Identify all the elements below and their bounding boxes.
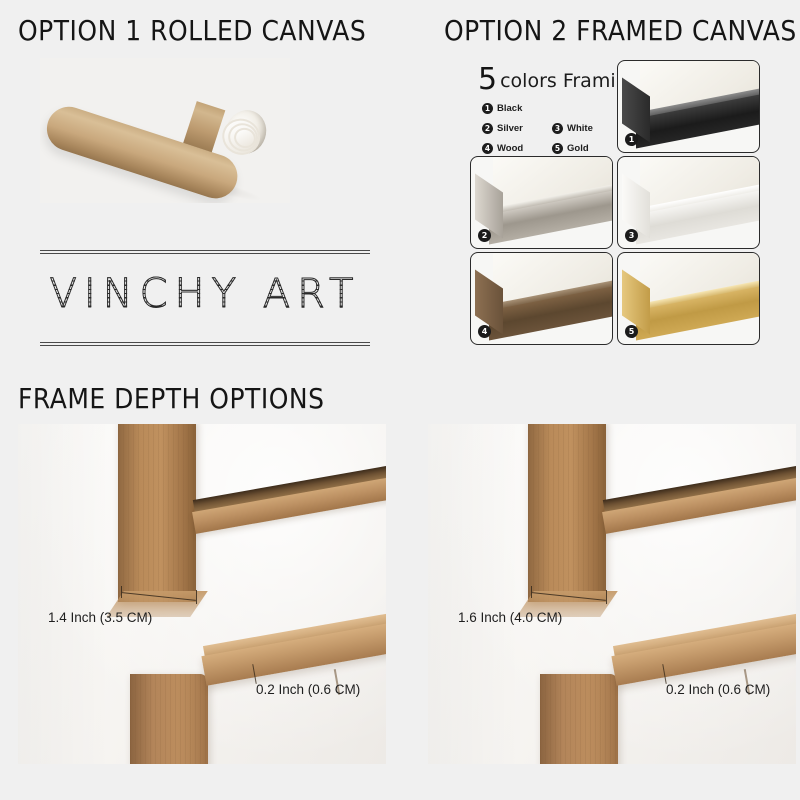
framing-colors-title: 5colors Framing — [478, 62, 640, 97]
frame-edge-label: 0.2 Inch (0.6 CM) — [256, 682, 360, 697]
legend-item-white: 3 White — [552, 123, 622, 134]
swatch-badge-4: 4 — [478, 325, 491, 338]
legend-badge-2: 2 — [482, 123, 493, 134]
frame-corner-illustration — [618, 253, 759, 344]
measure-tick-right — [606, 590, 607, 604]
brand-wordmark: VINCHY ART — [40, 272, 370, 316]
frame-corner-illustration — [471, 253, 612, 344]
rolled-canvas-photo — [40, 58, 290, 203]
logo-rule-bottom — [40, 342, 370, 346]
legend-badge-1: 1 — [482, 103, 493, 114]
section-heading-option-1: OPTION 1 ROLLED CANVAS — [18, 14, 366, 46]
frame-depth-photo-1-4-inch: 1.4 Inch (3.5 CM) 0.2 Inch (0.6 CM) — [18, 424, 386, 764]
frame-depth-photo-1-6-inch: 1.6 Inch (4.0 CM) 0.2 Inch (0.6 CM) — [428, 424, 796, 764]
legend-label-silver: Silver — [497, 123, 523, 134]
swatch-badge-5: 5 — [625, 325, 638, 338]
frame-swatch-gold[interactable]: 5 — [617, 252, 760, 345]
frame-swatch-silver[interactable]: 2 — [470, 156, 613, 249]
section-heading-option-2: OPTION 2 FRAMED CANVAS — [444, 14, 797, 46]
swatch-badge-3: 3 — [625, 229, 638, 242]
logo-rule-top — [40, 250, 370, 254]
frame-post-lower — [540, 674, 618, 764]
frame-edge-label: 0.2 Inch (0.6 CM) — [666, 682, 770, 697]
frame-depth-label: 1.6 Inch (4.0 CM) — [458, 610, 562, 625]
framing-color-legend: 1 Black 2 Silver 3 White 4 Wood 5 Gold — [482, 103, 612, 154]
legend-item-black: 1 Black — [482, 103, 622, 114]
frame-depth-label: 1.4 Inch (3.5 CM) — [48, 610, 152, 625]
frame-post-upper — [118, 424, 196, 602]
legend-item-wood: 4 Wood — [482, 143, 552, 154]
legend-label-white: White — [567, 123, 593, 134]
legend-badge-5: 5 — [552, 143, 563, 154]
brand-logo-block: VINCHY ART — [40, 248, 370, 348]
legend-item-gold: 5 Gold — [552, 143, 622, 154]
frame-swatch-wood[interactable]: 4 — [470, 252, 613, 345]
swatch-badge-2: 2 — [478, 229, 491, 242]
infographic-canvas: OPTION 1 ROLLED CANVAS VINCHY ART OPTION… — [0, 0, 800, 800]
frame-post-upper — [528, 424, 606, 602]
swatch-badge-1: 1 — [625, 133, 638, 146]
framing-count: 5 — [478, 62, 497, 97]
frame-swatch-black[interactable]: 1 — [617, 60, 760, 153]
frame-corner-illustration — [618, 61, 759, 152]
frame-corner-illustration — [618, 157, 759, 248]
framing-colors-panel: 5colors Framing 1 Black 2 Silver 3 White… — [470, 58, 770, 358]
legend-badge-3: 3 — [552, 123, 563, 134]
frame-swatch-white[interactable]: 3 — [617, 156, 760, 249]
measure-tick-right — [196, 590, 197, 604]
legend-label-wood: Wood — [497, 143, 523, 154]
frame-corner-illustration — [471, 157, 612, 248]
legend-item-silver: 2 Silver — [482, 123, 552, 134]
legend-label-black: Black — [497, 103, 522, 114]
section-heading-frame-depth: FRAME DEPTH OPTIONS — [18, 382, 324, 414]
legend-badge-4: 4 — [482, 143, 493, 154]
frame-post-lower — [130, 674, 208, 764]
legend-label-gold: Gold — [567, 143, 589, 154]
